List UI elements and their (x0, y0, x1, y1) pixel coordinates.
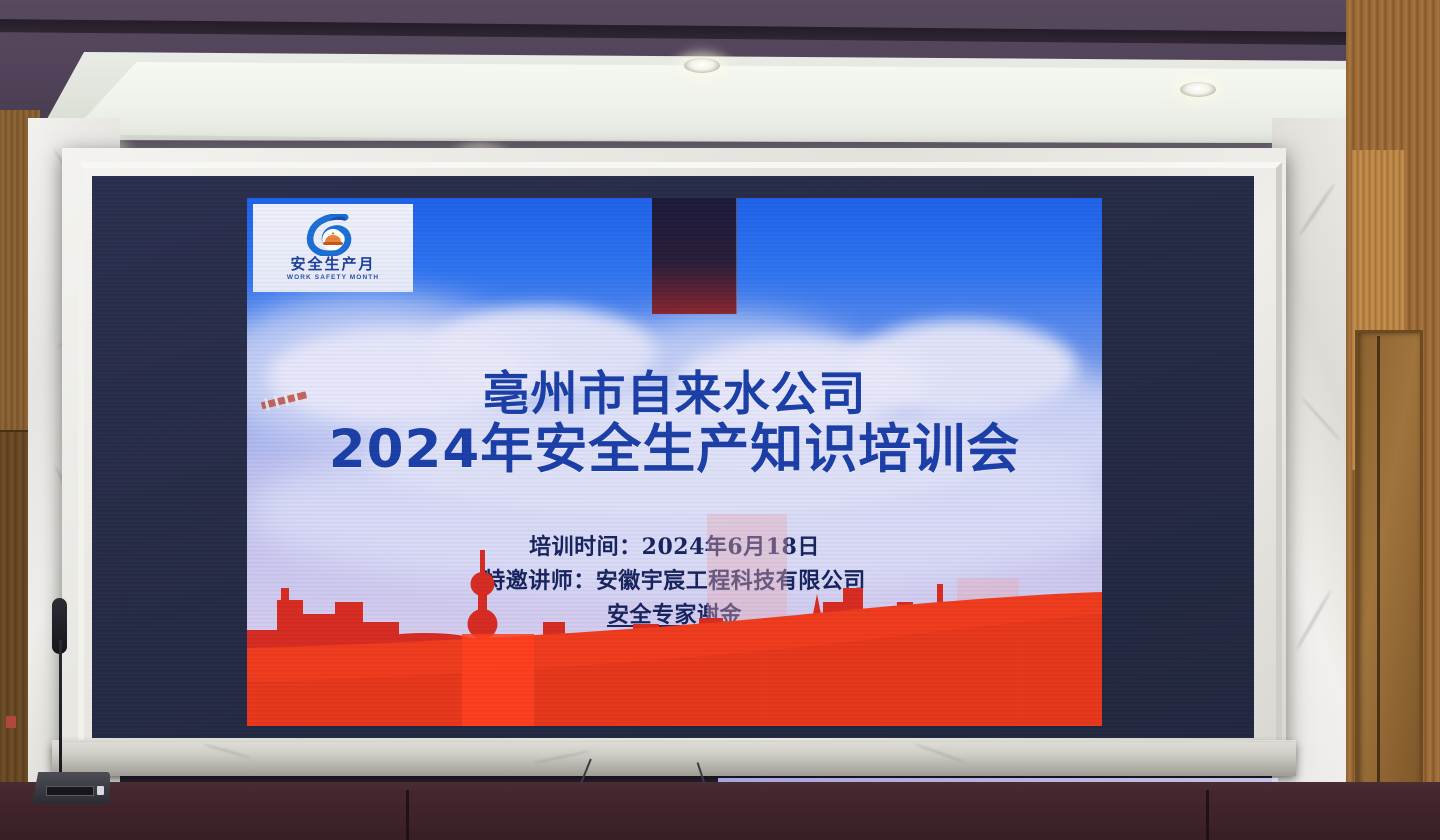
detail-safety-expert: 安全专家谢金 (247, 598, 1102, 632)
red-overlay-box (462, 634, 534, 726)
door-seam (1377, 336, 1380, 824)
conference-room-scene: 安全生产月 WORK SAFETY MONTH 亳州市自来水公司 2024年安全… (0, 0, 1440, 840)
desk-panel-seam (1206, 790, 1209, 840)
cloud-layer (247, 276, 1102, 576)
led-video-wall[interactable]: 安全生产月 WORK SAFETY MONTH 亳州市自来水公司 2024年安全… (92, 176, 1254, 738)
presentation-slide[interactable]: 安全生产月 WORK SAFETY MONTH 亳州市自来水公司 2024年安全… (247, 198, 1102, 726)
slide-title: 亳州市自来水公司 2024年安全生产知识培训会 (247, 370, 1102, 478)
conference-desk-front (0, 790, 1440, 840)
pink-overlay-box (707, 514, 787, 630)
red-watermark-icon (257, 388, 317, 412)
desk-panel-seam (406, 790, 409, 840)
logo-english-label: WORK SAFETY MONTH (287, 275, 379, 282)
red-wave-band (247, 586, 1102, 726)
microphone-base-slot (46, 786, 94, 796)
microphone-gooseneck (59, 640, 62, 780)
gold-ribbon-wave (247, 576, 1102, 726)
downlight-icon (684, 58, 720, 73)
detail-invited-lecturer: 特邀讲师：安徽宇宸工程科技有限公司 (247, 564, 1102, 598)
logo-chinese-label: 安全生产月 (290, 257, 375, 272)
downlight-icon (1180, 82, 1216, 97)
city-skyline-silhouette (247, 544, 1102, 674)
pink-overlay-box (957, 578, 1019, 660)
screen-marble-ledge (52, 742, 1296, 776)
detail-training-time: 培训时间：2024年6月18日 (247, 530, 1102, 564)
work-safety-month-logo: 安全生产月 WORK SAFETY MONTH (253, 204, 413, 292)
door[interactable] (1355, 330, 1423, 836)
safety-month-6-icon (304, 214, 362, 256)
wall-switch-icon[interactable] (6, 716, 16, 728)
slide-details: 培训时间：2024年6月18日 特邀讲师：安徽宇宸工程科技有限公司 安全专家谢金 (247, 530, 1102, 632)
slide-title-line2: 2024年安全生产知识培训会 (247, 422, 1102, 478)
microphone-indicator-icon (97, 786, 104, 795)
banner-strip-artifact (652, 198, 737, 314)
slide-title-line1: 亳州市自来水公司 (247, 370, 1102, 420)
